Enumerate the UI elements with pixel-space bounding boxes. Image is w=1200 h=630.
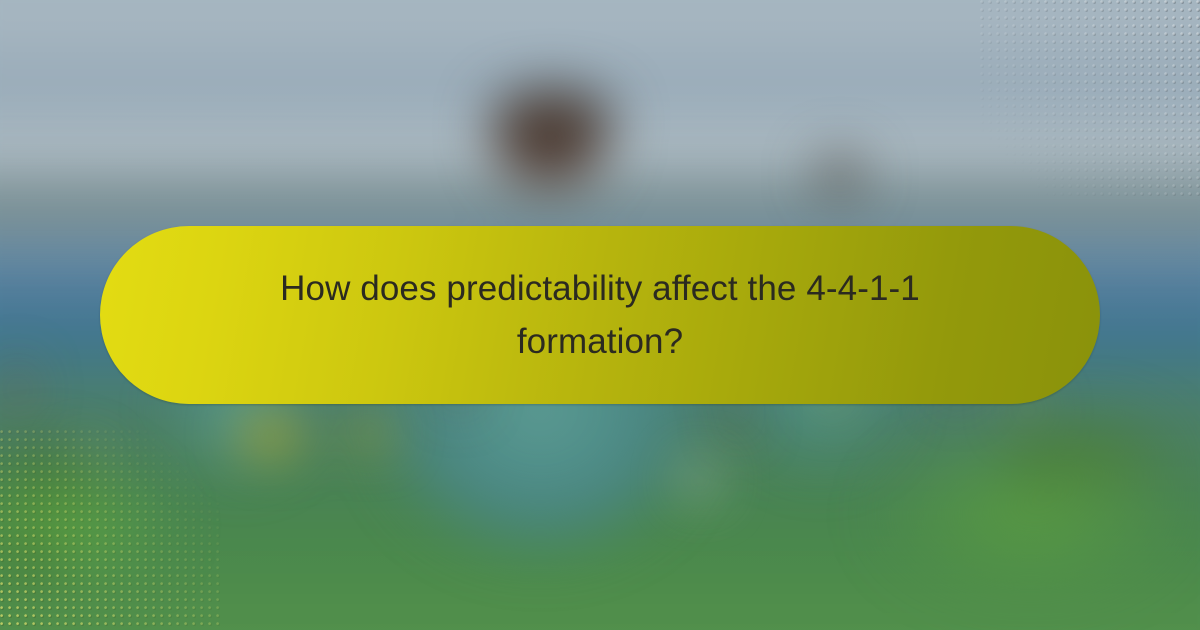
dot-grid-top-right-icon: [980, 0, 1200, 200]
question-pill: How does predictability affect the 4-4-1…: [100, 226, 1100, 404]
dot-grid-bottom-left-icon: [0, 430, 220, 630]
question-card: How does predictability affect the 4-4-1…: [0, 0, 1200, 630]
question-text: How does predictability affect the 4-4-1…: [220, 262, 980, 368]
